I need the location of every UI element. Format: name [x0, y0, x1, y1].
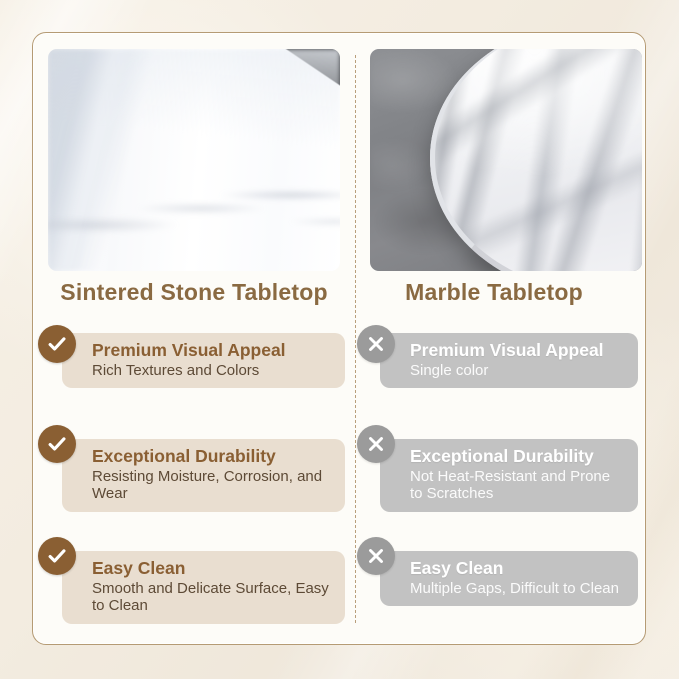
feature-desc: Smooth and Delicate Surface, Easy to Cle… — [92, 580, 333, 615]
column-divider — [355, 55, 356, 623]
column-sintered-stone: Sintered Stone Tabletop Premium Visual A… — [33, 33, 355, 644]
feature-title: Easy Clean — [92, 558, 333, 579]
feature-card: Exceptional Durability Not Heat-Resistan… — [380, 439, 638, 512]
marble-photo — [370, 49, 642, 271]
feature-title: Easy Clean — [410, 558, 626, 579]
feature-card: Exceptional Durability Resisting Moistur… — [62, 439, 345, 512]
feature-desc: Not Heat-Resistant and Prone to Scratche… — [410, 468, 626, 503]
feature-card: Easy Clean Multiple Gaps, Difficult to C… — [380, 551, 638, 606]
sintered-stone-surface-image — [48, 49, 340, 271]
feature-title: Premium Visual Appeal — [92, 340, 333, 361]
cross-icon — [357, 325, 395, 363]
column-heading-sintered-stone: Sintered Stone Tabletop — [33, 279, 355, 306]
cross-icon — [357, 425, 395, 463]
feature-desc: Multiple Gaps, Difficult to Clean — [410, 580, 626, 597]
feature-desc: Single color — [410, 362, 626, 379]
feature-title: Exceptional Durability — [410, 446, 626, 467]
column-heading-marble: Marble Tabletop — [355, 279, 646, 306]
feature-card: Premium Visual Appeal Single color — [380, 333, 638, 388]
comparison-infographic: Sintered Stone Tabletop Premium Visual A… — [0, 0, 679, 679]
column-marble: Marble Tabletop Premium Visual Appeal Si… — [355, 33, 646, 644]
marble-tabletop-shape — [430, 49, 642, 271]
feature-title: Premium Visual Appeal — [410, 340, 626, 361]
feature-card: Easy Clean Smooth and Delicate Surface, … — [62, 551, 345, 624]
feature-card: Premium Visual Appeal Rich Textures and … — [62, 333, 345, 388]
feature-desc: Resisting Moisture, Corrosion, and Wear — [92, 468, 333, 503]
check-icon — [38, 425, 76, 463]
sintered-stone-photo — [48, 49, 340, 271]
check-icon — [38, 537, 76, 575]
feature-title: Exceptional Durability — [92, 446, 333, 467]
check-icon — [38, 325, 76, 363]
cross-icon — [357, 537, 395, 575]
feature-desc: Rich Textures and Colors — [92, 362, 333, 379]
marble-table-image — [370, 49, 642, 271]
content-frame: Sintered Stone Tabletop Premium Visual A… — [32, 32, 646, 645]
